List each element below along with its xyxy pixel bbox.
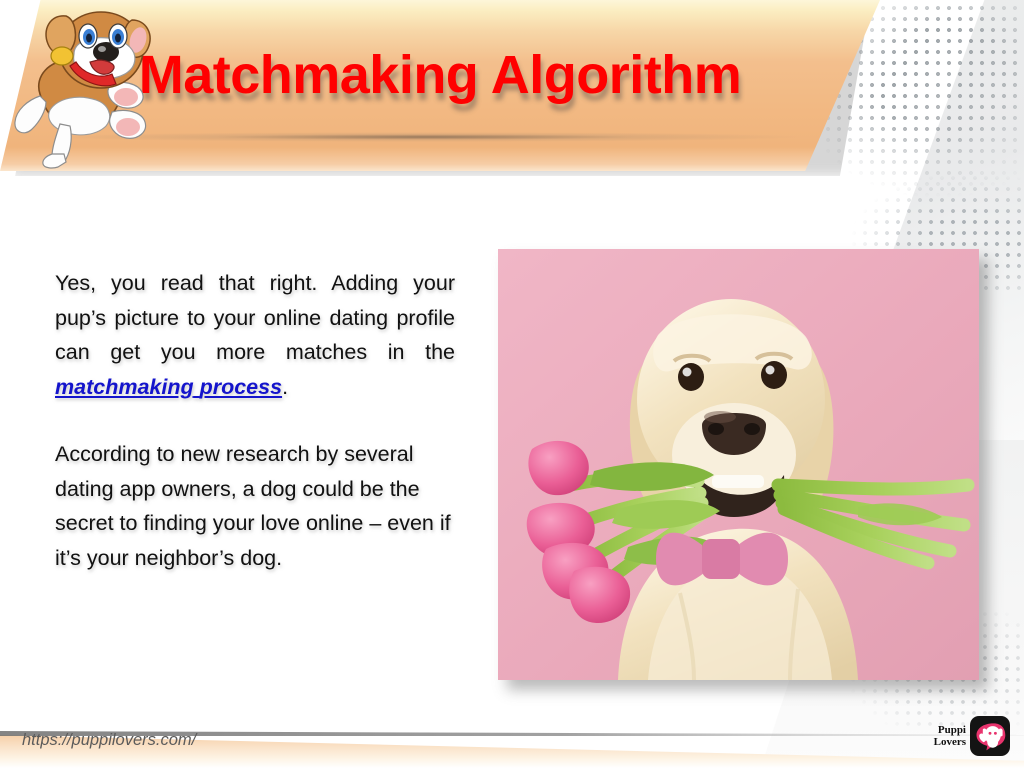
matchmaking-process-link[interactable]: matchmaking process: [55, 375, 282, 399]
body-text-column: Yes, you read that right. Adding your pu…: [55, 266, 455, 575]
paragraph-1-period: .: [282, 375, 288, 399]
paragraph-2: According to new research by several dat…: [55, 437, 455, 575]
dog-photo: [498, 249, 979, 680]
link-word-1: matchmaking: [55, 375, 194, 399]
brand-name-line1: Puppi: [934, 724, 966, 736]
paragraph-1: Yes, you read that right. Adding your pu…: [55, 266, 455, 404]
footer-url[interactable]: https://puppilovers.com/: [22, 731, 196, 750]
brand-name: Puppi Lovers: [934, 724, 966, 748]
slide-canvas: Matchmaking Algorithm: [0, 0, 1024, 768]
paragraph-1-text-before-link: Yes, you read that right. Adding your pu…: [55, 271, 455, 364]
link-word-2: process: [200, 375, 282, 399]
brand-logo[interactable]: Puppi Lovers: [934, 716, 1010, 756]
dog-photo-illustration: [498, 249, 979, 680]
running-puppy-icon: [4, 0, 176, 174]
brand-mark: [970, 716, 1010, 756]
puppi-lovers-logo-icon: [972, 718, 1008, 754]
brand-name-line2: Lovers: [934, 736, 966, 748]
paragraph-2-text: According to new research by several dat…: [55, 442, 451, 570]
